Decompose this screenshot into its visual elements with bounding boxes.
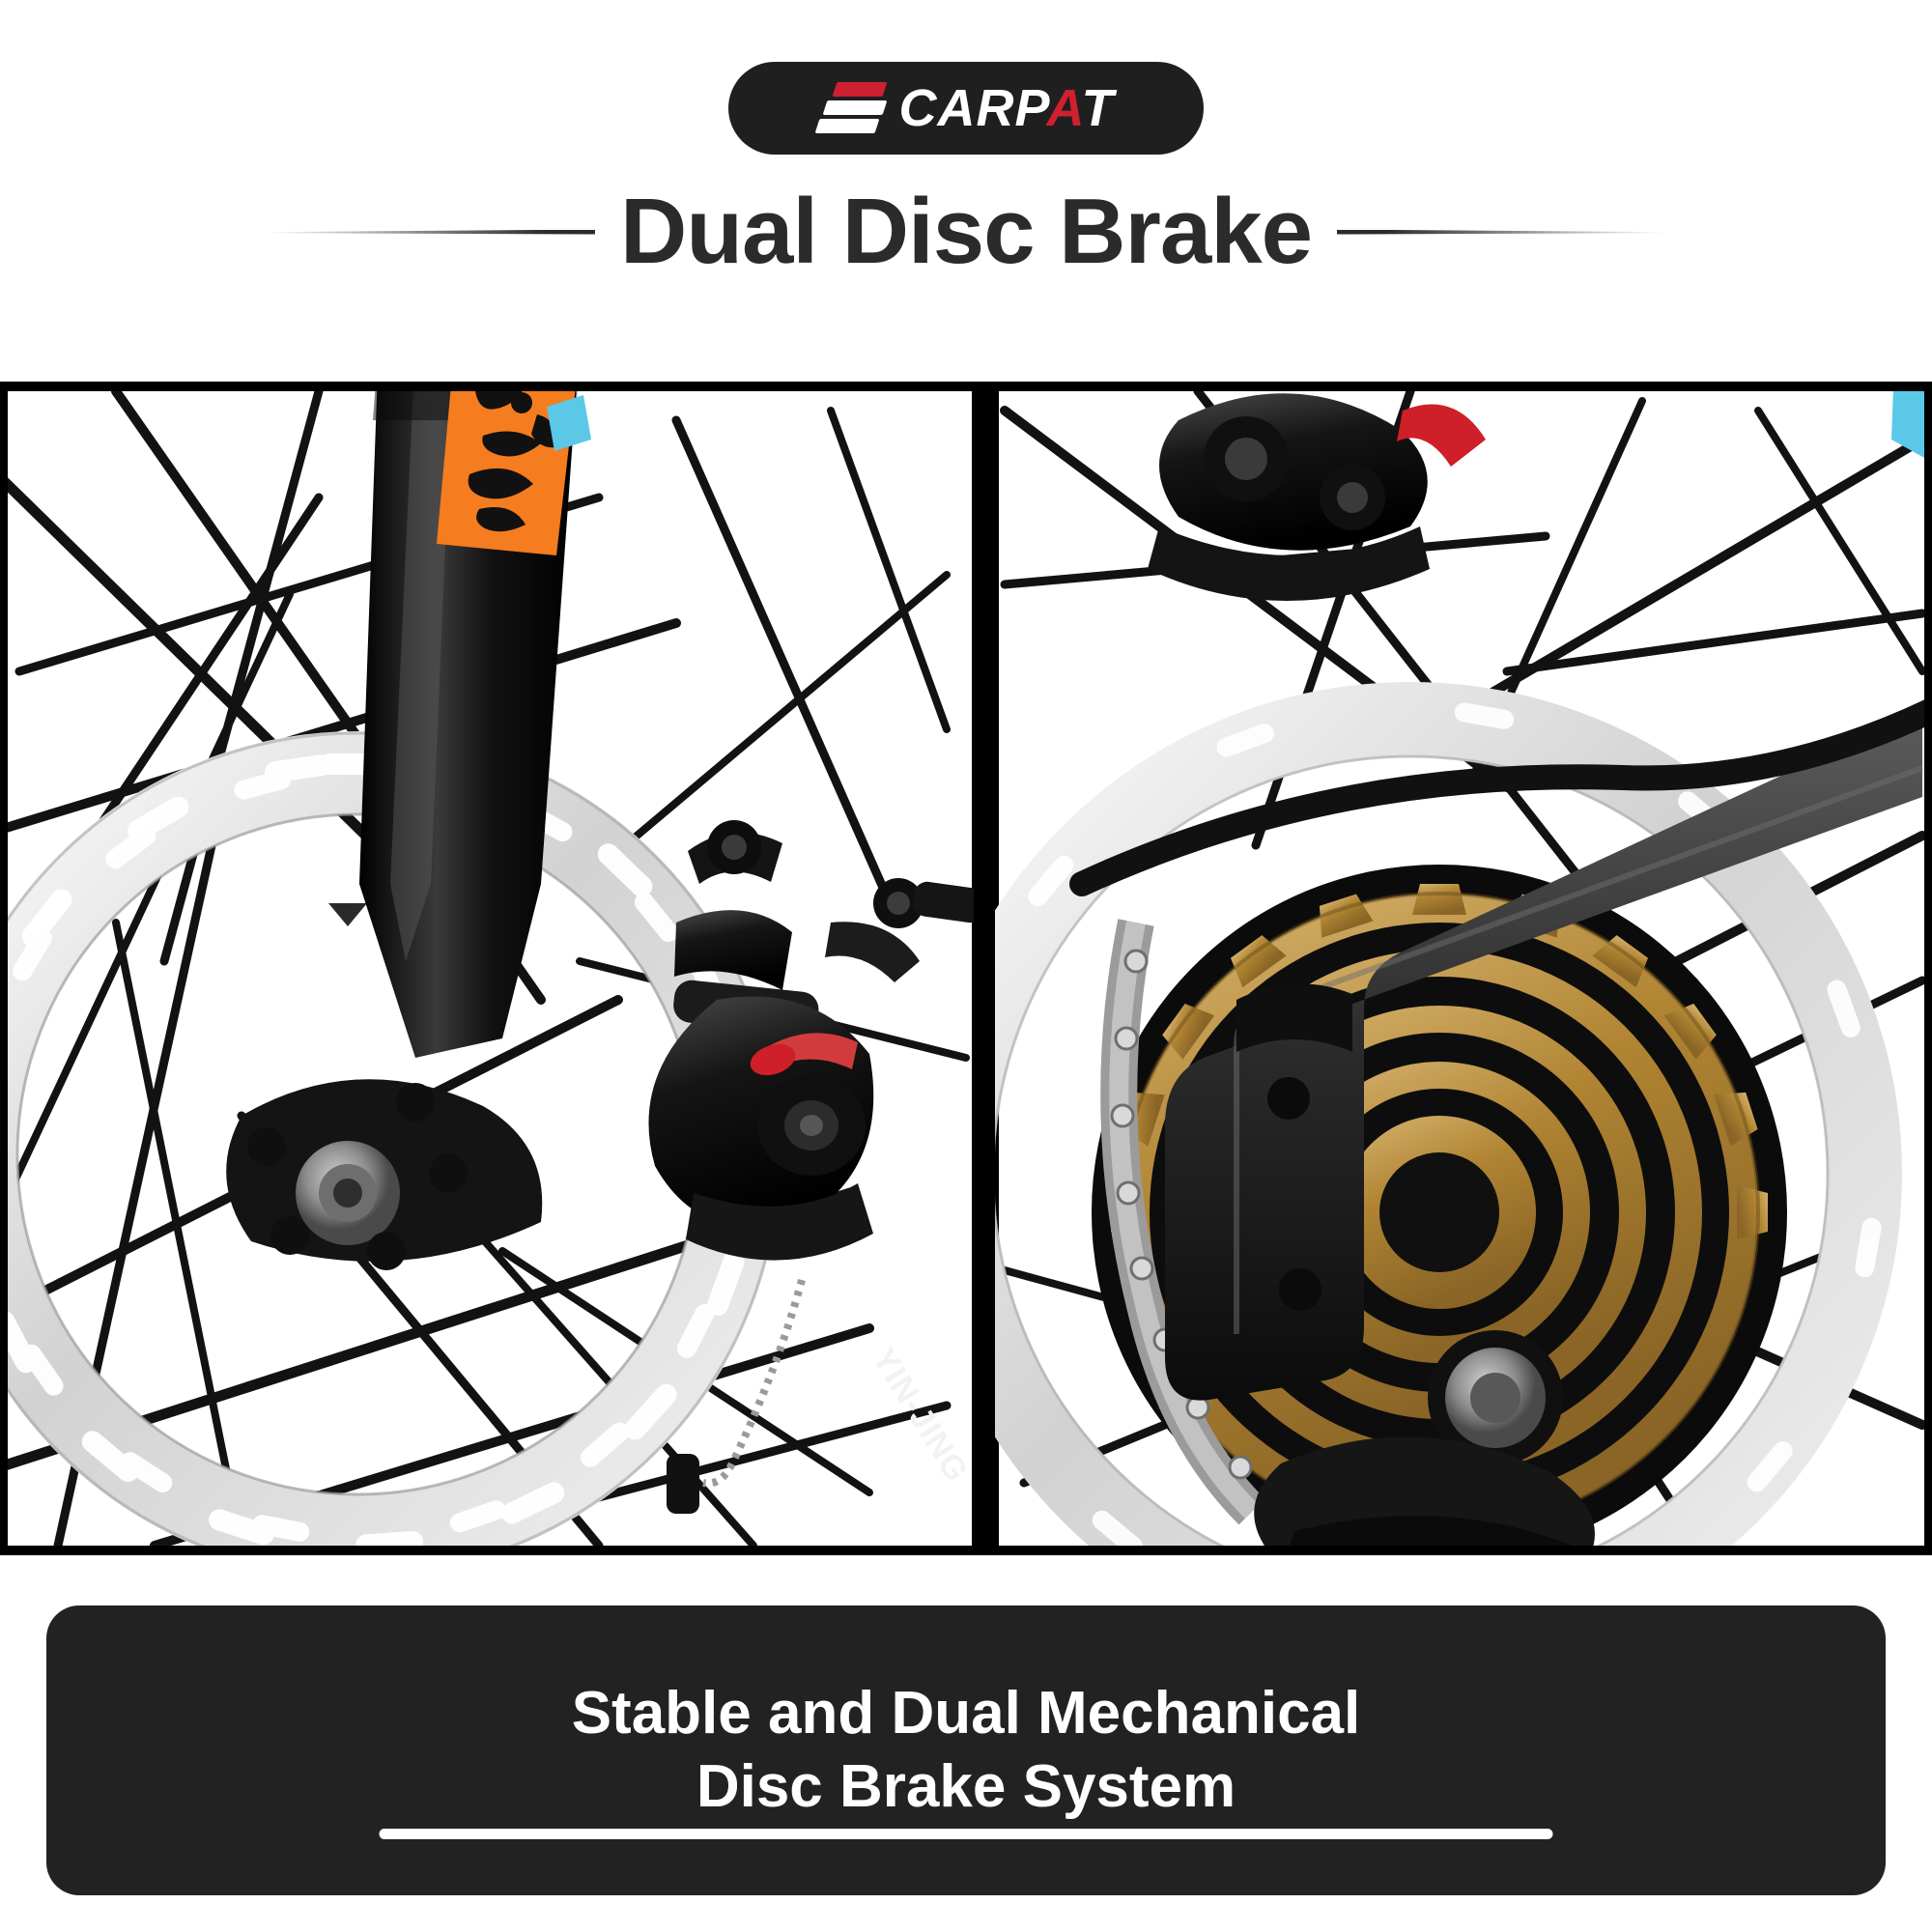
caption-underline-icon (380, 1829, 1553, 1839)
tapered-rule-left-icon (267, 230, 595, 235)
brand-logo: CARPAT (728, 62, 1204, 155)
title-row: Dual Disc Brake (0, 174, 1932, 290)
tapered-rule-right-icon (1337, 230, 1665, 235)
panel-front-disc-brake: YIN-JING (0, 382, 986, 1555)
panel-rear-cassette-derailleur: INDEX HG M50 (938, 387, 1932, 1555)
photo-border-right (1924, 382, 1932, 1555)
caption-box: Stable and Dual Mechanical Disc Brake Sy… (46, 1605, 1886, 1895)
caption-line-1: Stable and Dual Mechanical (572, 1677, 1361, 1750)
page-title: Dual Disc Brake (620, 185, 1312, 278)
photo-illustration: YIN-JING (0, 382, 1932, 1555)
brand-accent-letter: A (1047, 79, 1082, 137)
product-photo: YIN-JING (0, 382, 1932, 1555)
photo-border-top (0, 382, 1932, 391)
caption-line-2: Disc Brake System (696, 1750, 1236, 1824)
header: CARPAT Dual Disc Brake (0, 0, 1932, 382)
brand-text-after: T (1082, 79, 1115, 137)
brand-logo-text: CARPAT (898, 82, 1114, 134)
photo-border-bottom (0, 1546, 1932, 1555)
brand-text-before: CARP (898, 79, 1046, 137)
product-infographic: CARPAT Dual Disc Brake (0, 0, 1932, 1932)
photo-border-left (0, 382, 8, 1555)
carpat-logo-mark-icon (817, 80, 885, 136)
panel-divider (974, 382, 995, 1555)
